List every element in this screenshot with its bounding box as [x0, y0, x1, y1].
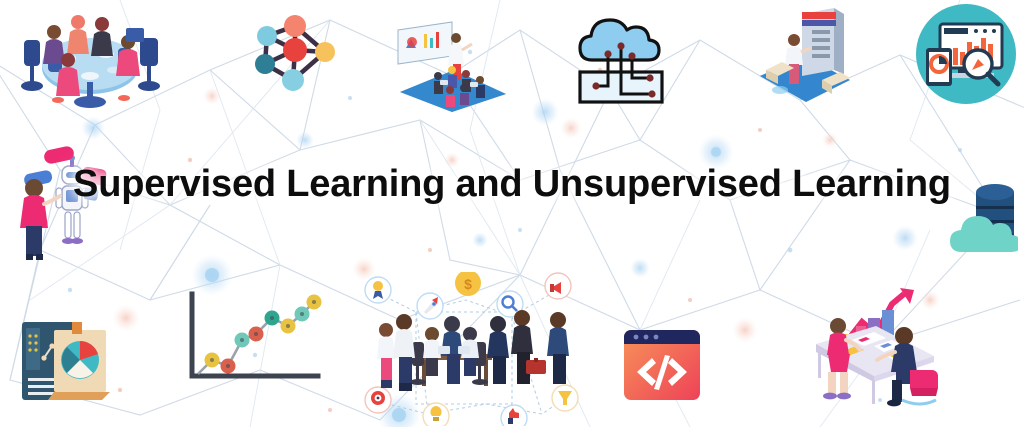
- data-analytics-badge: [914, 2, 1018, 106]
- cloud-computing-icon: [566, 8, 676, 108]
- business-team-illustration: $: [346, 272, 588, 426]
- neural-network-icon: [243, 6, 347, 102]
- code-window-icon: [618, 322, 706, 408]
- svg-text:$: $: [464, 276, 472, 292]
- meeting-table-illustration: [6, 0, 174, 116]
- page-title: Supervised Learning and Unsupervised Lea…: [0, 162, 1024, 206]
- desk-analytics-illustration: [800, 282, 944, 410]
- report-chart-illustration: [14, 310, 114, 414]
- line-chart-illustration: [176, 278, 322, 390]
- banner-image: Supervised Learning and Unsupervised Lea…: [0, 0, 1024, 427]
- server-operator-illustration: [756, 4, 854, 108]
- training-session-illustration: [392, 20, 514, 112]
